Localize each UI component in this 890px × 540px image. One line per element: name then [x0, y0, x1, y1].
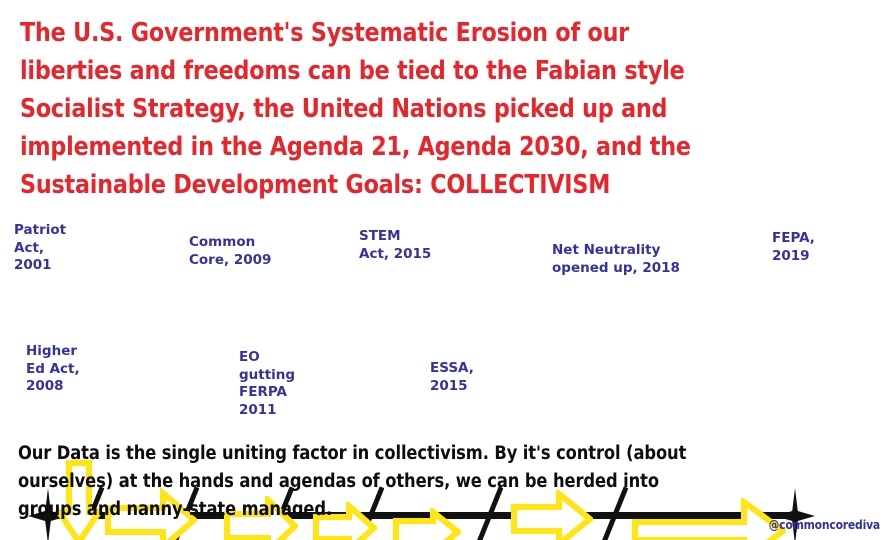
title-block: The U.S. Government's Systematic Erosion…	[20, 14, 876, 204]
infographic-canvas: The U.S. Government's Systematic Erosion…	[0, 0, 890, 540]
title-line: Sustainable Development Goals: COLLECTIV…	[20, 166, 850, 204]
title-line: The U.S. Government's Systematic Erosion…	[20, 14, 850, 52]
timeline-label-net-neutrality: Net Neutrality opened up, 2018	[552, 242, 680, 277]
timeline-label-fepa: FEPA, 2019	[772, 230, 815, 265]
title-line: liberties and freedoms can be tied to th…	[20, 52, 850, 90]
caption-block: Our Data is the single uniting factor in…	[18, 440, 838, 524]
timeline-label-patriot-act: Patriot Act, 2001	[14, 222, 66, 275]
attribution-handle: @commoncorediva	[769, 518, 880, 532]
title-line: Socialist Strategy, the United Nations p…	[20, 90, 850, 128]
title-line: implemented in the Agenda 21, Agenda 203…	[20, 128, 850, 166]
timeline-label-higher-ed-act: Higher Ed Act, 2008	[26, 343, 80, 396]
timeline-label-common-core: Common Core, 2009	[189, 234, 271, 269]
caption-line: Our Data is the single uniting factor in…	[18, 440, 822, 468]
timeline-label-essa: ESSA, 2015	[430, 360, 474, 395]
timeline-label-stem-act: STEM Act, 2015	[359, 228, 431, 263]
timeline-label-eo-ferpa: EO gutting FERPA 2011	[239, 349, 295, 419]
caption-line: ourselves) at the hands and agendas of o…	[18, 468, 822, 496]
caption-line: groups and nanny-state managed.	[18, 496, 822, 524]
timeline-graphic: Patriot Act, 2001 Common Core, 2009 STEM…	[0, 212, 890, 432]
